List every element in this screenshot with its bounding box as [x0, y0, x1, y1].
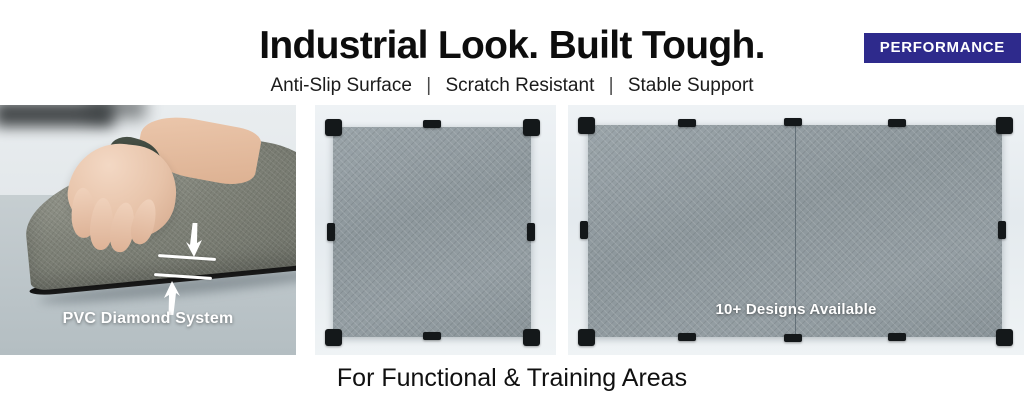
- tile-texture: [333, 127, 531, 337]
- connector-clip: [423, 332, 441, 340]
- connector-clip: [325, 329, 342, 346]
- connector-clip: [327, 223, 335, 241]
- connector-clip: [523, 329, 540, 346]
- product-image-single-tile: [315, 105, 556, 355]
- connector-clip: [888, 333, 906, 341]
- feature-separator-1: |: [417, 74, 440, 98]
- panel-caption-1: PVC Diamond System: [0, 310, 296, 328]
- connector-clip: [888, 119, 906, 127]
- connector-clip: [784, 334, 802, 342]
- connector-clip: [523, 119, 540, 136]
- feature-list: Anti-Slip Surface | Scratch Resistant | …: [0, 74, 1024, 98]
- connector-clip: [580, 221, 588, 239]
- feature-item-2: Scratch Resistant: [445, 75, 594, 96]
- tile-surface: [333, 127, 531, 337]
- footer-caption: For Functional & Training Areas: [0, 363, 1024, 393]
- connector-clip: [996, 329, 1013, 346]
- promo-banner: Industrial Look. Built Tough. Anti-Slip …: [0, 0, 1024, 418]
- feature-item-3: Stable Support: [628, 75, 754, 96]
- product-image-pvc-diamond-system: PVC Diamond System: [0, 105, 296, 355]
- connector-clip: [325, 119, 342, 136]
- connector-clip: [527, 223, 535, 241]
- feature-separator-2: |: [600, 74, 623, 98]
- connector-clip: [784, 118, 802, 126]
- status-badge: PERFORMANCE: [864, 33, 1021, 63]
- connector-clip: [998, 221, 1006, 239]
- arrow-down-icon: [186, 223, 202, 257]
- feature-item-1: Anti-Slip Surface: [270, 75, 412, 96]
- connector-clip: [578, 117, 595, 134]
- connector-clip: [678, 333, 696, 341]
- connector-clip: [996, 117, 1013, 134]
- connector-clip: [578, 329, 595, 346]
- panel-caption-3: 10+ Designs Available: [568, 301, 1024, 318]
- connector-clip: [423, 120, 441, 128]
- background-blur-object-2: [86, 105, 146, 119]
- product-image-two-tile-assembly: 10+ Designs Available: [568, 105, 1024, 355]
- connector-clip: [678, 119, 696, 127]
